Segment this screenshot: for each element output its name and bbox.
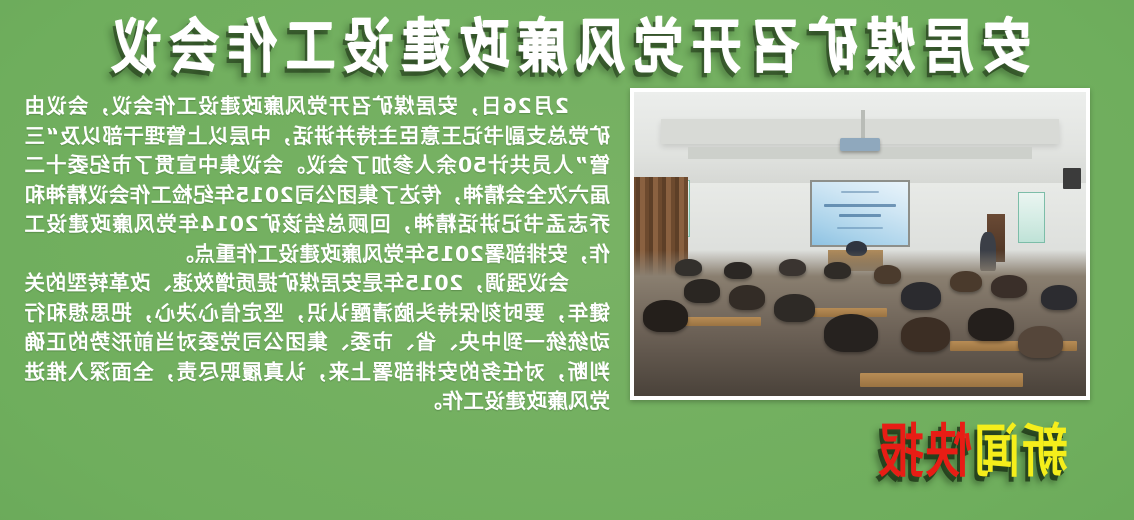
attendee-head <box>950 271 982 293</box>
attendee-head <box>724 262 751 280</box>
attendee-head <box>874 265 901 284</box>
article-paragraph-2: 会议强调，2015年是安居煤矿提质增效速、改革转型的关键年，要时刻保持头脑清醒认… <box>24 269 610 417</box>
photo-frame <box>630 88 1090 400</box>
attendee-head <box>1041 285 1077 310</box>
attendee-head <box>779 259 806 277</box>
projection-screen <box>812 182 907 245</box>
slide-subtitle-line <box>839 214 881 218</box>
wall-monitor <box>1063 168 1081 189</box>
attendee-head <box>774 294 815 322</box>
attendee-head <box>824 262 851 280</box>
slide-footer-line <box>837 227 883 229</box>
page-title: 安居煤矿召开党风廉政建设工作会议 <box>103 0 1031 84</box>
badge-part-one: 新闻 <box>972 406 1068 489</box>
attendee-head <box>969 308 1014 340</box>
news-poster: 安居煤矿召开党风廉政建设工作会议 <box>0 0 1134 520</box>
news-bulletin-badge: 新闻 快报 <box>876 414 1068 480</box>
desk-row <box>860 373 1023 388</box>
attendee-head <box>991 275 1027 298</box>
projector-mount-rod <box>861 110 865 140</box>
article-paragraph-1: 2月26日，安居煤矿召开党风廉政建设工作会议，会议由矿党总支副书记王意臣主持并讲… <box>24 92 610 269</box>
slide-header-line <box>841 191 879 194</box>
projection-screen-frame <box>810 180 909 247</box>
article-body: 2月26日，安居煤矿召开党风廉政建设工作会议，会议由矿党总支副书记王意臣主持并讲… <box>24 92 610 417</box>
attendee-head <box>675 259 702 277</box>
audience-area <box>634 250 1086 396</box>
attendee-head <box>824 314 878 352</box>
conference-room-meeting-photo <box>634 92 1086 396</box>
attendee-head <box>684 279 720 302</box>
badge-part-two: 快报 <box>876 406 972 489</box>
wall-poster-left <box>1018 192 1045 243</box>
slide-title-line <box>824 204 897 208</box>
projector-icon <box>840 138 881 152</box>
attendee-head <box>729 285 765 310</box>
attendee-head <box>643 300 688 332</box>
attendee-head <box>901 317 951 352</box>
attendee-head <box>1018 326 1063 358</box>
attendee-head <box>901 282 942 310</box>
poster-title-bar: 安居煤矿召开党风廉政建设工作会议 <box>0 8 1134 76</box>
